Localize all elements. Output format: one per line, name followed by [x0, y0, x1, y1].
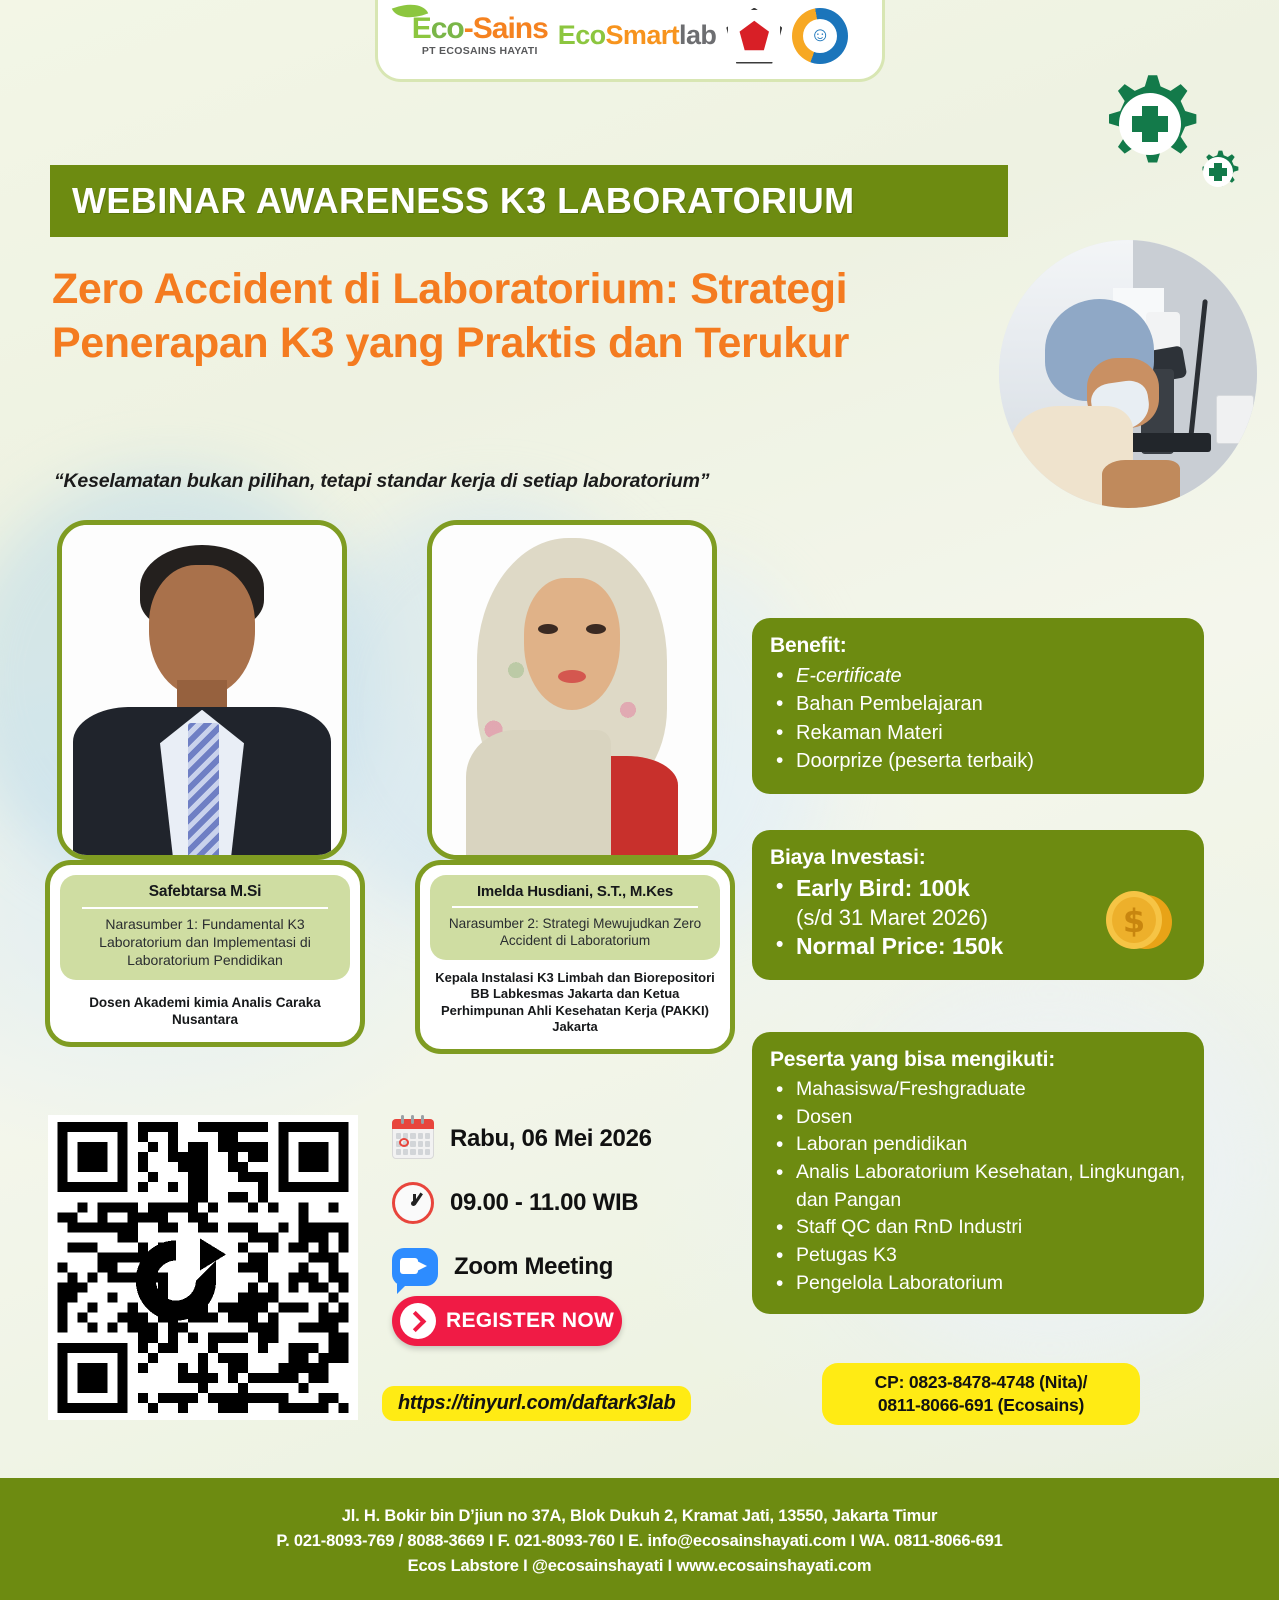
pricing-heading: Biaya Investasi: — [770, 846, 1186, 870]
speaker-1-role: Narasumber 1: Fundamental K3 Laboratoriu… — [70, 916, 340, 970]
chevron-right-icon — [400, 1303, 436, 1339]
ecosains-tagline: PT ECOSAINS HAYATI — [422, 46, 538, 57]
registration-link[interactable]: https://tinyurl.com/daftark3lab — [382, 1386, 691, 1421]
footer-bar: Jl. H. Bokir bin D’jiun no 37A, Blok Duk… — [0, 1478, 1279, 1600]
detail-platform-row: Zoom Meeting — [392, 1246, 732, 1288]
audience-item: Petugas K3 — [796, 1242, 1186, 1270]
svg-text:$: $ — [1123, 902, 1145, 940]
eco-word-sains: Sains — [473, 12, 548, 45]
footer-contacts: P. 021-8093-769 / 8088-3669 I F. 021-809… — [276, 1532, 1002, 1551]
smartlab-eco: Eco — [558, 20, 606, 50]
benefit-panel: Benefit: E-certificate Bahan Pembelajara… — [752, 618, 1204, 794]
event-date: Rabu, 06 Mei 2026 — [450, 1125, 652, 1153]
speaker-2-topic: Imelda Husdiani, S.T., M.Kes Narasumber … — [430, 875, 720, 960]
page-title: WEBINAR AWARENESS K3 LABORATORIUM — [72, 180, 855, 222]
audience-list: Mahasiswa/Freshgraduate Dosen Laboran pe… — [796, 1076, 1186, 1298]
audience-item: Mahasiswa/Freshgraduate — [796, 1076, 1186, 1104]
contact-line-1: CP: 0823-8478-4748 (Nita)/ — [832, 1371, 1130, 1394]
ecosmartlab-logo: EcoSmartlab — [558, 22, 716, 49]
eco-letter-e: E — [412, 12, 431, 45]
speaker-2-role: Narasumber 2: Strategi Mewujudkan Zero A… — [440, 915, 710, 950]
speaker-card-1: Safebtarsa M.Si Narasumber 1: Fundamenta… — [45, 640, 365, 1047]
footer-address: Jl. H. Bokir bin D’jiun no 37A, Blok Duk… — [342, 1507, 938, 1526]
speaker-2-org: Kepala Instalasi K3 Limbah dan Bioreposi… — [430, 970, 720, 1036]
tagline-quote: “Keselamatan bukan pilihan, tetapi stand… — [54, 470, 954, 493]
logo-strip: Eco-Sains PT ECOSAINS HAYATI EcoSmartlab… — [375, 0, 885, 82]
eco-letters-co: co — [431, 12, 464, 45]
divider — [82, 907, 328, 909]
contact-line-2: 0811-8066-691 (Ecosains) — [832, 1394, 1130, 1417]
clock-icon — [392, 1182, 434, 1224]
benefit-heading: Benefit: — [770, 634, 1186, 658]
ecosains-logo: Eco-Sains PT ECOSAINS HAYATI — [412, 14, 548, 57]
register-button-label: REGISTER NOW — [446, 1309, 614, 1333]
audience-heading: Peserta yang bisa mengikuti: — [770, 1048, 1186, 1072]
speaker-1-name: Safebtarsa M.Si — [70, 883, 340, 901]
hero-lab-photo — [999, 240, 1257, 508]
benefit-item: E-certificate — [796, 662, 1186, 690]
benefit-item: Rekaman Materi — [796, 719, 1186, 747]
speaker-card-2: Imelda Husdiani, S.T., M.Kes Narasumber … — [415, 640, 735, 1054]
speaker-2-photo — [427, 520, 717, 860]
zoom-video-icon — [392, 1248, 438, 1286]
registration-qr-code[interactable] — [48, 1115, 358, 1420]
audience-item: Analis Laboratorium Kesehatan, Lingkunga… — [796, 1159, 1186, 1214]
diktisaintek-seal: ☺ — [792, 8, 848, 64]
benefit-item: Doorprize (peserta terbaik) — [796, 747, 1186, 775]
pricing-panel: Biaya Investasi: Early Bird: 100k (s/d 3… — [752, 830, 1204, 980]
audience-item: Pengelola Laboratorium — [796, 1270, 1186, 1298]
eco-dash: - — [464, 12, 473, 45]
calendar-icon — [392, 1119, 434, 1159]
benefit-list: E-certificate Bahan Pembelajaran Rekaman… — [796, 662, 1186, 776]
page-subtitle: Zero Accident di Laboratorium: Strategi … — [52, 262, 982, 370]
ecosains-wordmark: Eco-Sains — [412, 14, 548, 44]
audience-item: Laboran pendidikan — [796, 1131, 1186, 1159]
speaker-2-name: Imelda Husdiani, S.T., M.Kes — [440, 883, 710, 900]
coin-stack-icon: $ — [1090, 882, 1182, 958]
smartlab-lab: lab — [679, 20, 716, 50]
event-time: 09.00 - 11.00 WIB — [450, 1189, 638, 1217]
smartlab-smart: Smart — [606, 20, 680, 50]
detail-time-row: 09.00 - 11.00 WIB — [392, 1182, 732, 1224]
detail-date-row: Rabu, 06 Mei 2026 — [392, 1118, 732, 1160]
audience-item: Dosen — [796, 1104, 1186, 1132]
register-now-button[interactable]: REGISTER NOW — [392, 1296, 622, 1346]
audience-panel: Peserta yang bisa mengikuti: Mahasiswa/F… — [752, 1032, 1204, 1314]
title-banner: WEBINAR AWARENESS K3 LABORATORIUM — [50, 165, 1008, 237]
speaker-1-photo — [57, 520, 347, 860]
k3-gear-cross-icon — [1087, 68, 1247, 198]
audience-item: Staff QC dan RnD Industri — [796, 1214, 1186, 1242]
divider — [452, 906, 698, 908]
poster-canvas: Eco-Sains PT ECOSAINS HAYATI EcoSmartlab… — [0, 0, 1279, 1600]
benefit-item: Bahan Pembelajaran — [796, 690, 1186, 718]
contact-person-badge: CP: 0823-8478-4748 (Nita)/ 0811-8066-691… — [822, 1363, 1140, 1425]
speaker-1-topic: Safebtarsa M.Si Narasumber 1: Fundamenta… — [60, 875, 350, 980]
event-platform: Zoom Meeting — [454, 1253, 613, 1281]
speaker-1-org: Dosen Akademi kimia Analis Caraka Nusant… — [60, 994, 350, 1028]
akademi-kimia-analis-seal — [726, 8, 782, 64]
event-details: Rabu, 06 Mei 2026 09.00 - 11.00 WIB Zoom… — [392, 1118, 732, 1310]
footer-social: Ecos Labstore I @ecosainshayati I www.ec… — [408, 1557, 872, 1576]
